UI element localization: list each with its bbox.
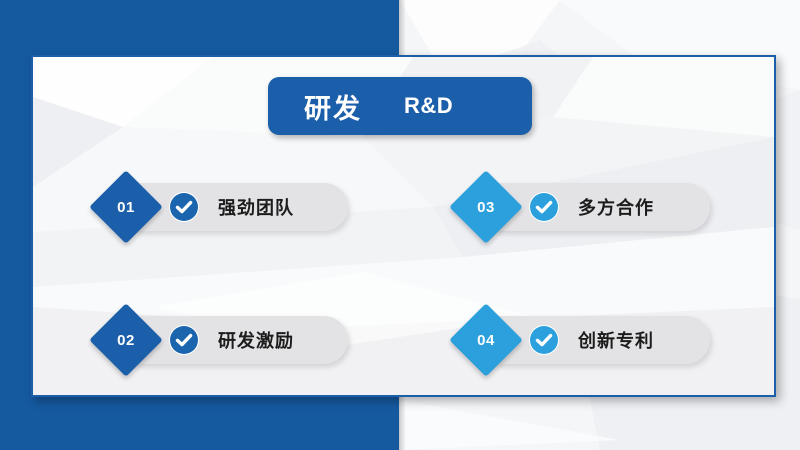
list-item[interactable]: 04 创新专利	[460, 312, 710, 368]
item-label: 创新专利	[578, 312, 654, 368]
section-title-badge: 研发 R&D	[268, 77, 532, 135]
item-number: 03	[460, 181, 512, 233]
item-label: 研发激励	[218, 312, 294, 368]
item-number: 04	[460, 314, 512, 366]
list-item[interactable]: 03 多方合作	[460, 179, 710, 235]
check-circle-icon	[168, 324, 200, 356]
slide-canvas: 研发 R&D 01 强劲团队 02 研发激励	[0, 0, 800, 450]
item-number: 02	[100, 314, 152, 366]
item-label: 多方合作	[578, 179, 654, 235]
section-title-en: R&D	[404, 93, 453, 119]
check-circle-icon	[528, 324, 560, 356]
list-item[interactable]: 02 研发激励	[100, 312, 350, 368]
item-number: 01	[100, 181, 152, 233]
section-title-cn: 研发	[304, 87, 362, 126]
check-circle-icon	[168, 191, 200, 223]
check-circle-icon	[528, 191, 560, 223]
list-item[interactable]: 01 强劲团队	[100, 179, 350, 235]
item-label: 强劲团队	[218, 179, 294, 235]
